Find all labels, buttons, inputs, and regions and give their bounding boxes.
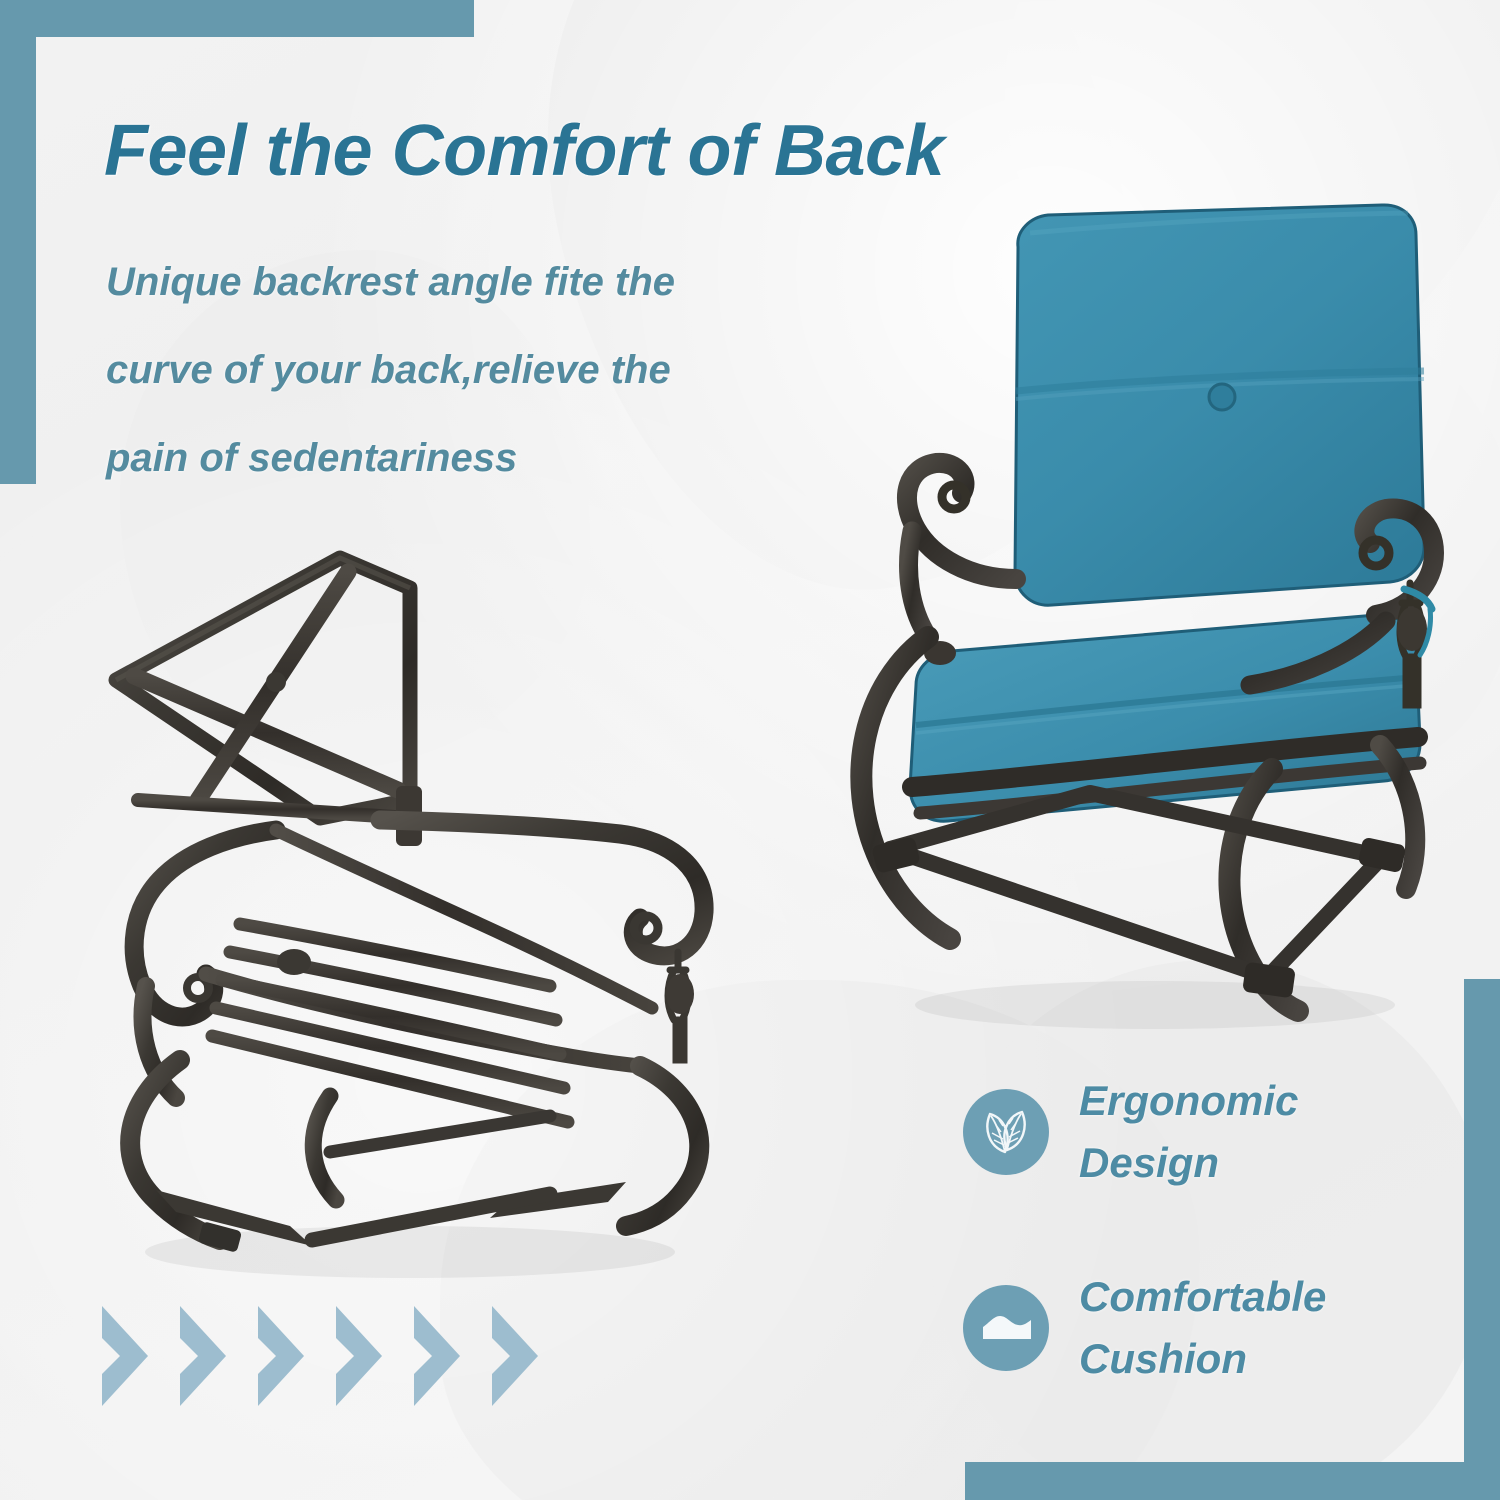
feature-label: Comfortable Cushion	[1079, 1266, 1326, 1390]
corner-bracket-bottom-right-horizontal	[965, 1462, 1500, 1500]
forward-chevron-icon	[96, 1302, 154, 1410]
corner-bracket-top-left-vertical	[0, 0, 36, 484]
subheadline-line-1: Unique backrest angle fite the	[106, 238, 866, 326]
feature-comfortable-cushion: Comfortable Cushion	[963, 1266, 1326, 1390]
product-image-metal-frame-chair	[80, 500, 760, 1290]
seat-back-rail	[276, 830, 652, 1008]
forward-chevron-icon	[330, 1302, 388, 1410]
cushion-icon	[975, 1297, 1037, 1359]
feature-icon-badge	[963, 1089, 1049, 1175]
chevron-strip	[96, 1302, 544, 1410]
leaf-icon	[978, 1104, 1034, 1160]
forward-chevron-icon	[252, 1302, 310, 1410]
forward-chevron-icon	[486, 1302, 544, 1410]
c-spring-leg-front-right	[626, 1066, 699, 1226]
subheadline-line-2: curve of your back,relieve the	[106, 326, 866, 414]
product-banner: Feel the Comfort of Back Unique backrest…	[0, 0, 1500, 1500]
subheadline: Unique backrest angle fite the curve of …	[106, 238, 866, 502]
feature-label-line-2: Cushion	[1079, 1328, 1326, 1390]
feature-label-line-1: Comfortable	[1079, 1266, 1326, 1328]
feature-icon-badge	[963, 1285, 1049, 1371]
feature-ergonomic-design: Ergonomic Design	[963, 1070, 1298, 1194]
corner-bracket-bottom-right-vertical	[1464, 979, 1500, 1463]
tufting-button	[1209, 384, 1235, 410]
feature-label-line-2: Design	[1079, 1132, 1298, 1194]
forward-chevron-icon	[174, 1302, 232, 1410]
feature-label: Ergonomic Design	[1079, 1070, 1298, 1194]
page-title: Feel the Comfort of Back	[104, 110, 944, 192]
forward-chevron-icon	[408, 1302, 466, 1410]
corner-bracket-top-left-horizontal	[0, 0, 474, 37]
feature-label-line-1: Ergonomic	[1079, 1070, 1298, 1132]
armrest-left	[907, 463, 1016, 579]
product-image-cushioned-chair	[820, 185, 1470, 1045]
sled-base-frame	[890, 793, 1382, 977]
subheadline-line-3: pain of sedentariness	[106, 414, 866, 502]
